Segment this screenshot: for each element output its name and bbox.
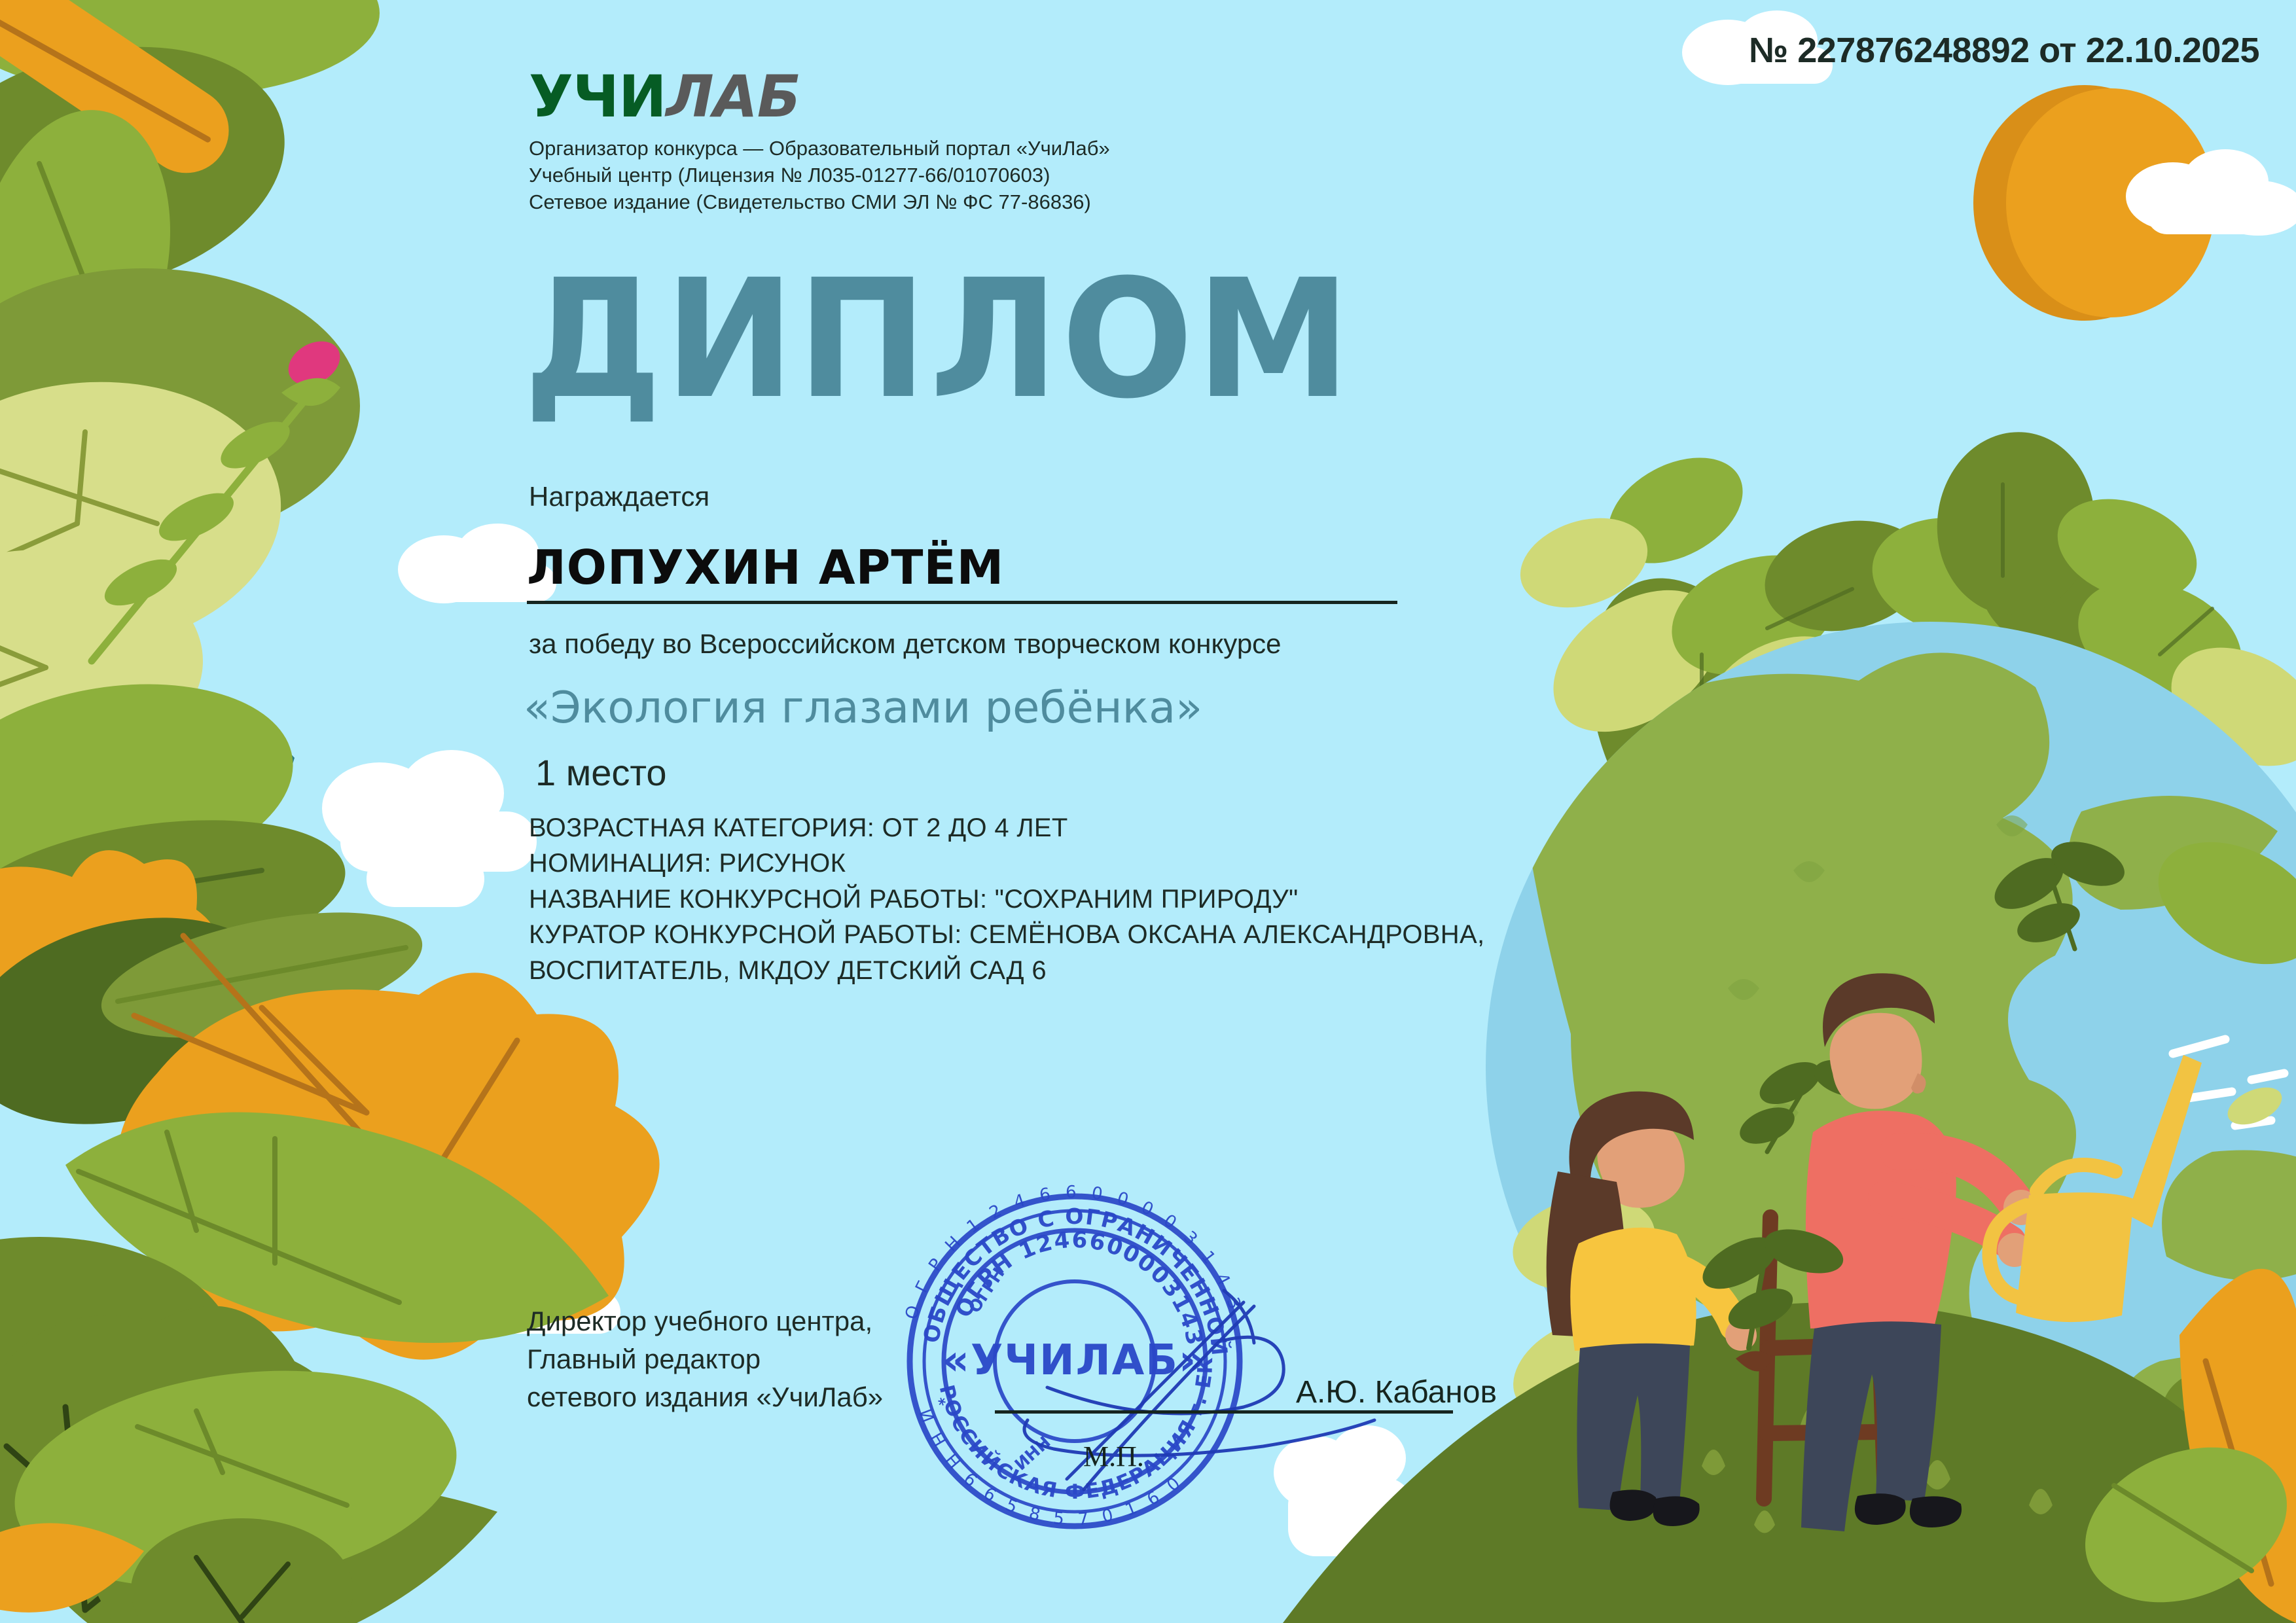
diploma-heading: ДИПЛОМ <box>524 262 1353 418</box>
certificate-number: № 227876248892 от 22.10.2025 <box>1749 30 2259 71</box>
certificate-page: О Г Р Н 1 2 4 6 6 0 0 0 0 3 1 4 3 И Н Н … <box>0 0 2296 1623</box>
detail-curator: КУРАТОР КОНКУРСНОЙ РАБОТЫ: СЕМЁНОВА ОКСА… <box>529 917 1484 952</box>
detail-work-title: НАЗВАНИЕ КОНКУРСНОЙ РАБОТЫ: "СОХРАНИМ ПР… <box>529 882 1484 917</box>
signatory-title-line-2: Главный редактор <box>527 1340 883 1378</box>
signatory-title: Директор учебного центра, Главный редакт… <box>527 1302 883 1416</box>
contest-name: «Экология глазами ребёнка» <box>524 682 1202 733</box>
recipient-name: ЛОПУХИН АРТЁМ <box>527 540 1004 595</box>
organizer-line-3: Сетевое издание (Свидетельство СМИ ЭЛ № … <box>529 188 1110 215</box>
mp-label: М.П. <box>1083 1440 1144 1473</box>
logo-gray-part: ЛАБ <box>666 63 800 130</box>
award-details: ВОЗРАСТНАЯ КАТЕГОРИЯ: ОТ 2 ДО 4 ЛЕТ НОМИ… <box>529 810 1484 988</box>
logo-green-part: УЧИ <box>529 63 666 130</box>
detail-curator-org: ВОСПИТАТЕЛЬ, МКДОУ ДЕТСКИЙ САД 6 <box>529 953 1484 988</box>
awarded-label: Награждается <box>529 481 709 512</box>
organizer-line-1: Организатор конкурса — Образовательный п… <box>529 135 1110 162</box>
award-reason: за победу во Всероссийском детском творч… <box>529 628 1282 660</box>
signatory-name: А.Ю. Кабанов <box>1296 1374 1497 1410</box>
signatory-title-line-3: сетевого издания «УчиЛаб» <box>527 1378 883 1416</box>
signatory-title-line-1: Директор учебного центра, <box>527 1302 883 1340</box>
brand-block: УЧИЛАБ Организатор конкурса — Образовате… <box>529 68 1110 216</box>
place-result: 1 место <box>535 751 667 794</box>
detail-age-category: ВОЗРАСТНАЯ КАТЕГОРИЯ: ОТ 2 ДО 4 ЛЕТ <box>529 810 1484 846</box>
detail-nomination: НОМИНАЦИЯ: РИСУНОК <box>529 846 1484 881</box>
organizer-lines: Организатор конкурса — Образовательный п… <box>529 135 1110 216</box>
organizer-line-2: Учебный центр (Лицензия № Л035-01277-66/… <box>529 162 1110 188</box>
recipient-underline <box>527 601 1397 604</box>
uchilab-logo: УЧИЛАБ <box>529 68 1110 126</box>
signature-line <box>995 1410 1453 1414</box>
